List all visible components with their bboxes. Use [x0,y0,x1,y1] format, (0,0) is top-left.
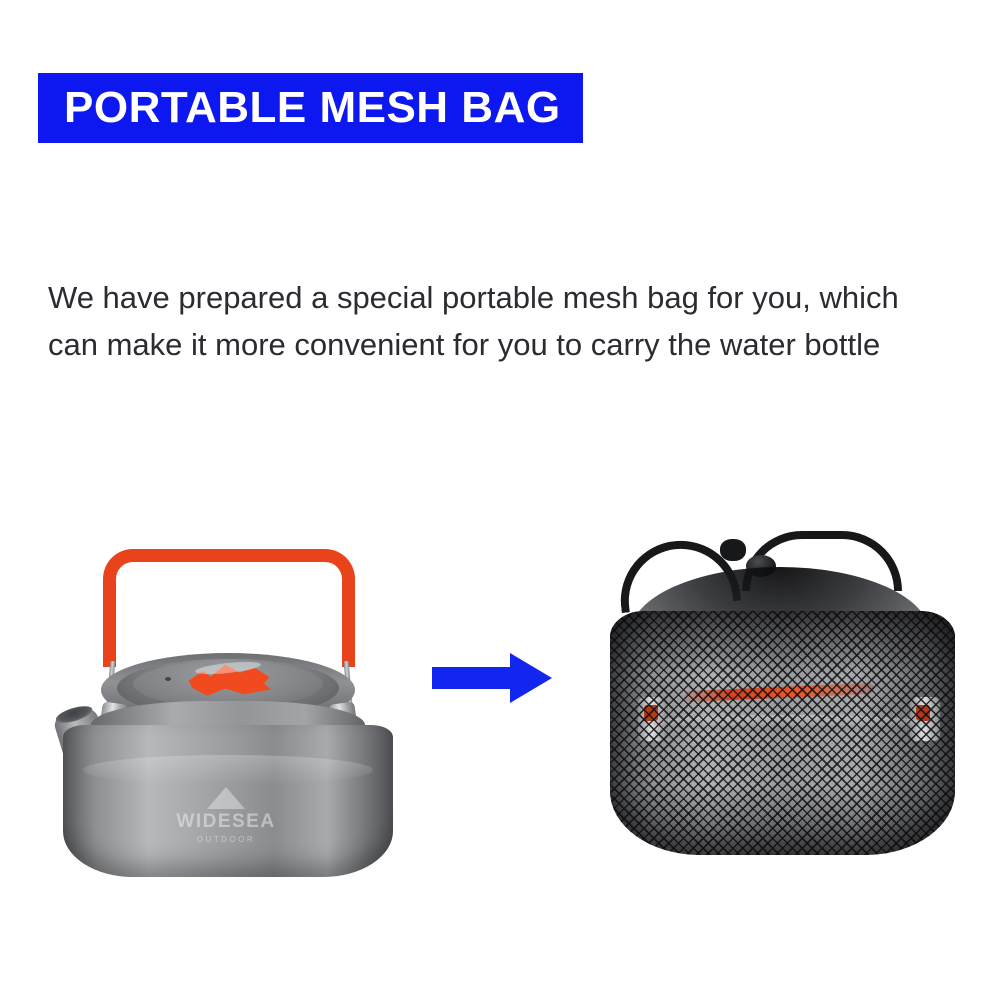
mesh-bag-image [600,515,970,865]
kettle-brand-logo: WIDESEA OUTDOOR [151,787,301,844]
arrow-shaft [432,667,516,689]
brand-name-text: WIDESEA [151,811,301,833]
mesh-shading-bottom [610,785,955,855]
mesh-bag-body [610,611,955,855]
arrow-head [510,653,552,703]
kettle-lid-vent-hole [165,677,171,681]
page-title-banner: PORTABLE MESH BAG [38,73,583,143]
brand-subtitle-text: OUTDOOR [151,835,301,844]
kettle-image: WIDESEA OUTDOOR [55,525,400,880]
page-title: PORTABLE MESH BAG [64,86,561,130]
drawstring-knot-icon [720,539,746,561]
product-illustration: WIDESEA OUTDOOR [0,505,1000,885]
mountain-icon [207,787,245,809]
mesh-shading-top [610,611,955,675]
kettle-bail-handle-icon [103,549,355,667]
description-paragraph: We have prepared a special portable mesh… [48,274,938,368]
transformation-arrow-icon [432,653,552,703]
